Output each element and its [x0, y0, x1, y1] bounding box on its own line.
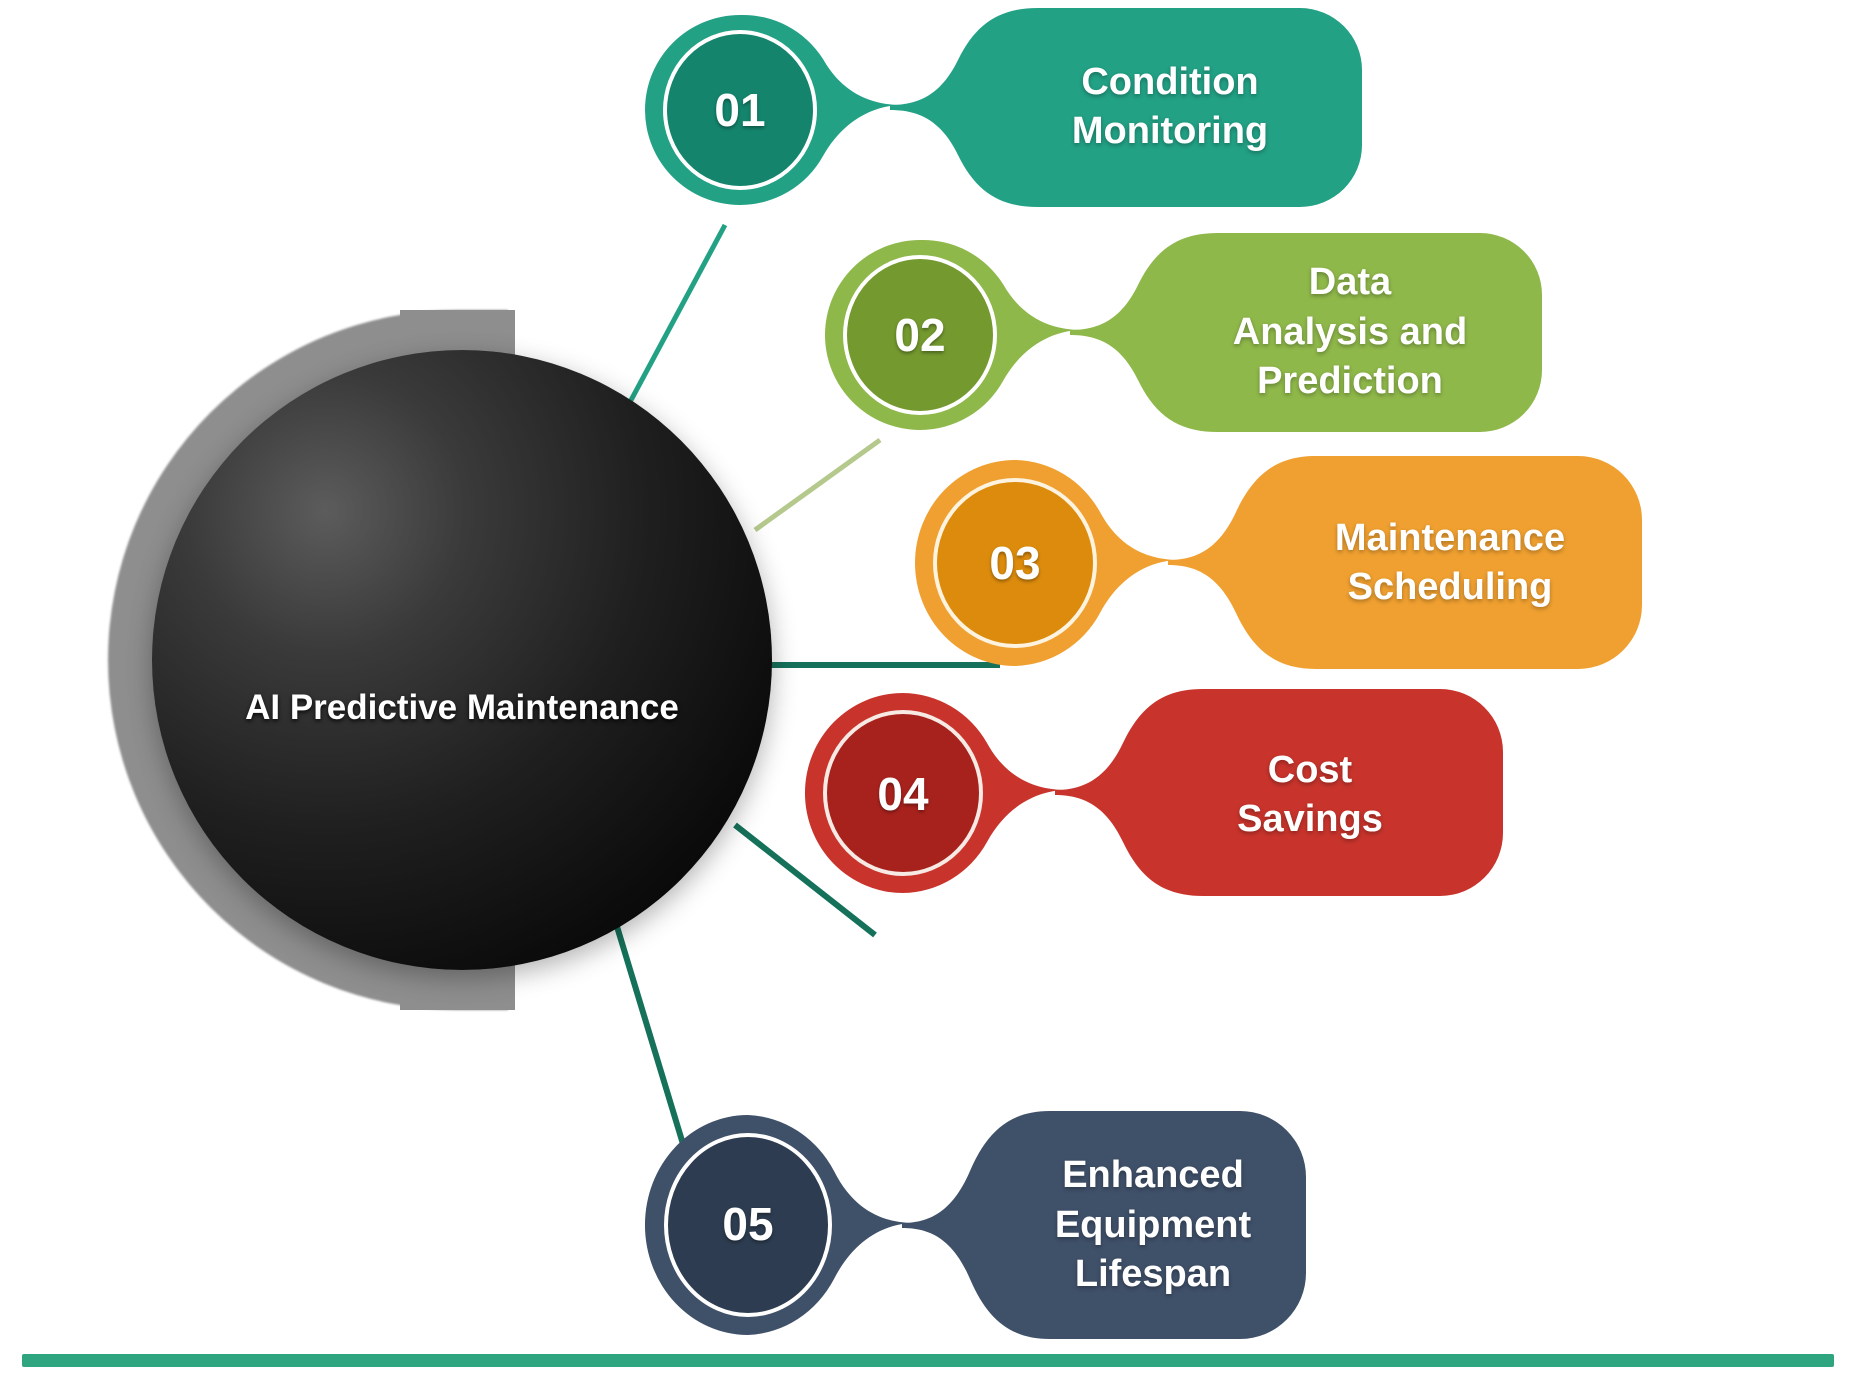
node-01-number: 01	[680, 83, 800, 137]
node-02[interactable]: 02 Data Analysis and Prediction	[820, 230, 1600, 435]
node-05-label: Enhanced Equipment Lifespan	[988, 1133, 1318, 1318]
node-01[interactable]: 01 Condition Monitoring	[640, 5, 1420, 210]
hub-label: AI Predictive Maintenance	[242, 685, 682, 731]
node-03[interactable]: 03 Maintenance Scheduling	[910, 450, 1690, 675]
node-03-label: Maintenance Scheduling	[1250, 488, 1650, 638]
node-05-number: 05	[688, 1197, 808, 1251]
node-04[interactable]: 04 Cost Savings	[800, 685, 1580, 900]
node-05[interactable]: 05 Enhanced Equipment Lifespan	[640, 1105, 1420, 1345]
infographic-canvas: AI Predictive Maintenance 01 Condition M…	[0, 0, 1857, 1395]
node-03-number: 03	[955, 536, 1075, 590]
node-02-label: Data Analysis and Prediction	[1170, 240, 1530, 425]
connector-line-02	[755, 440, 880, 530]
node-02-number: 02	[860, 308, 980, 362]
node-04-label: Cost Savings	[1150, 715, 1470, 875]
central-hub[interactable]: AI Predictive Maintenance	[100, 300, 760, 1040]
node-01-label: Condition Monitoring	[1000, 27, 1340, 187]
bottom-accent-bar	[22, 1354, 1834, 1367]
node-04-number: 04	[843, 767, 963, 821]
hub-sphere[interactable]: AI Predictive Maintenance	[152, 350, 772, 970]
